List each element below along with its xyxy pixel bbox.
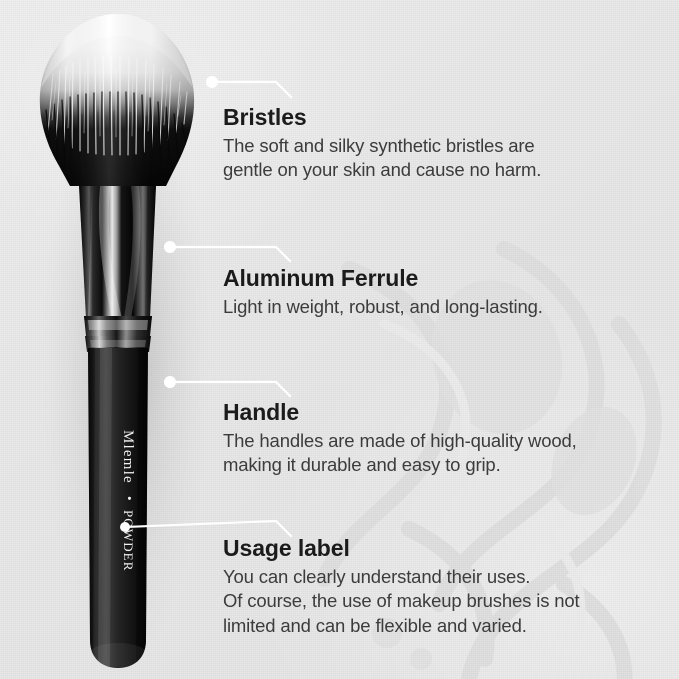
handle-separator-dot: • bbox=[122, 496, 137, 501]
brush-bristles bbox=[40, 13, 194, 186]
callout-handle: Handle The handles are made of high-qual… bbox=[223, 400, 577, 478]
callout-title-handle: Handle bbox=[223, 400, 577, 426]
handle-brand-text: Mlemle bbox=[120, 430, 136, 484]
aluminum-ferrule-part bbox=[79, 186, 156, 352]
callout-title-bristles: Bristles bbox=[223, 105, 541, 131]
infographic-canvas: Mlemle • POWDER Bristles The soft and si… bbox=[0, 0, 679, 679]
callout-title-aluminum-ferrule: Aluminum Ferrule bbox=[223, 266, 543, 292]
callout-body-aluminum-ferrule: Light in weight, robust, and long-lastin… bbox=[223, 295, 543, 320]
handle-type-text: POWDER bbox=[121, 510, 136, 572]
callout-bristles: Bristles The soft and silky synthetic br… bbox=[223, 105, 541, 183]
callout-title-usage-label: Usage label bbox=[223, 536, 580, 562]
callout-usage-label: Usage label You can clearly understand t… bbox=[223, 536, 580, 639]
brush-handle: Mlemle • POWDER bbox=[86, 348, 148, 668]
callout-aluminum-ferrule: Aluminum Ferrule Light in weight, robust… bbox=[223, 266, 543, 319]
callout-body-bristles: The soft and silky synthetic bristles ar… bbox=[223, 134, 541, 183]
powder-brush-illustration: Mlemle • POWDER bbox=[0, 0, 230, 679]
callout-body-handle: The handles are made of high-quality woo… bbox=[223, 429, 577, 478]
callout-body-usage-label: You can clearly understand their uses. O… bbox=[223, 565, 580, 639]
